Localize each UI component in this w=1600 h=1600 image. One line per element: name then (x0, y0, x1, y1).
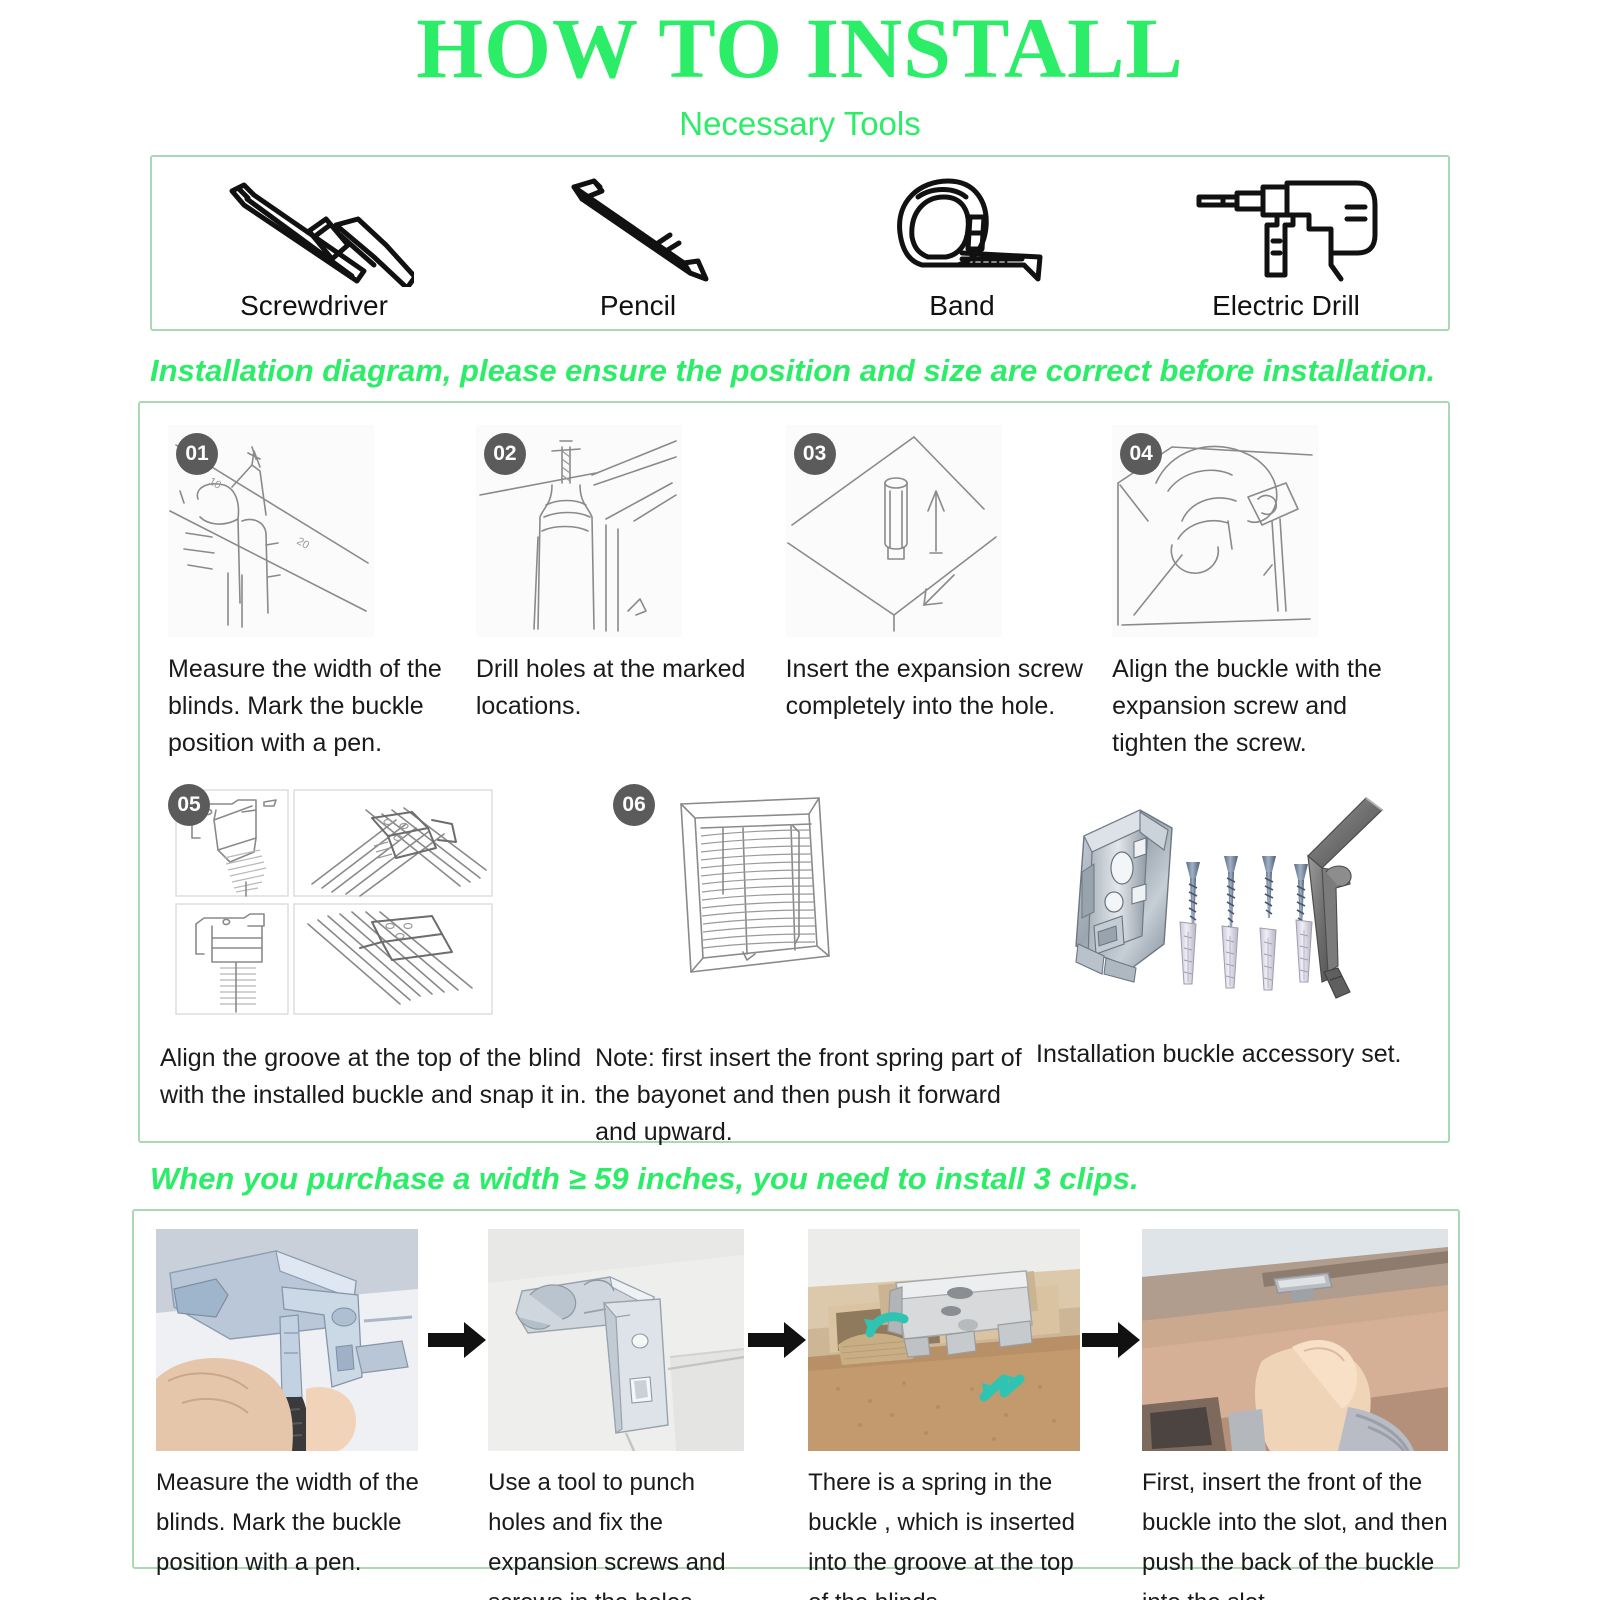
install-guide-page: HOW TO INSTALL Necessary Tools Scr (0, 0, 1600, 1600)
step-06-illustration: 06 (595, 776, 943, 1026)
installation-diagram-box: 01 (138, 401, 1450, 1143)
accessory-set-photo (1036, 776, 1422, 1026)
clip-caption: First, insert the front of the buckle in… (1142, 1463, 1448, 1600)
clips-section-heading: When you purchase a width ≥ 59 inches, y… (0, 1159, 1600, 1199)
screwdriver-icon (214, 175, 414, 287)
tool-label: Pencil (600, 289, 676, 323)
step-badge: 04 (1120, 433, 1162, 475)
clip-caption: Use a tool to punch holes and fix the ex… (488, 1463, 748, 1600)
necessary-tools-box: Screwdriver Pencil (150, 155, 1450, 331)
clip-caption: Measure the width of the blinds. Mark th… (156, 1463, 428, 1583)
tool-electric-drill: Electric Drill (1124, 157, 1448, 329)
clip-step-3: There is a spring in the buckle , which … (808, 1229, 1082, 1600)
right-arrow-icon (748, 1320, 808, 1360)
arrow-2 (748, 1229, 808, 1451)
tools-subtitle: Necessary Tools (0, 104, 1600, 144)
steps-row-2: 05 (140, 762, 1448, 1151)
page-title: HOW TO INSTALL (0, 0, 1600, 94)
clip-caption: There is a spring in the buckle , which … (808, 1463, 1082, 1600)
clip-install-photo-box: Measure the width of the blinds. Mark th… (132, 1209, 1460, 1569)
step-card-01: 01 (168, 425, 476, 762)
step-badge: 02 (484, 433, 526, 475)
step-card-02: 02 (476, 425, 786, 762)
step-01-illustration: 01 (168, 425, 374, 637)
clip-photo-2 (488, 1229, 744, 1451)
step-caption: Note: first insert the front spring part… (595, 1040, 1036, 1151)
accessory-caption: Installation buckle accessory set. (1036, 1036, 1428, 1073)
step-caption: Insert the expansion screw completely in… (786, 651, 1113, 725)
tape-measure-icon (862, 175, 1062, 287)
step-badge: 05 (168, 784, 210, 826)
step-05-illustration: 05 (160, 776, 512, 1026)
step-badge: 06 (613, 784, 655, 826)
step-caption: Align the groove at the top of the blind… (160, 1040, 595, 1114)
tool-label: Band (929, 289, 994, 323)
right-arrow-icon (1082, 1320, 1142, 1360)
tool-label: Electric Drill (1212, 289, 1360, 323)
tool-band: Band (800, 157, 1124, 329)
accessory-set-card: Installation buckle accessory set. (1036, 776, 1428, 1151)
step-caption: Measure the width of the blinds. Mark th… (168, 651, 476, 762)
svg-text:10: 10 (206, 475, 223, 492)
clip-step-1: Measure the width of the blinds. Mark th… (144, 1229, 428, 1583)
step-card-03: 03 (786, 425, 1113, 762)
tool-screwdriver: Screwdriver (152, 157, 476, 329)
clip-step-4: First, insert the front of the buckle in… (1142, 1229, 1448, 1600)
arrow-3 (1082, 1229, 1142, 1451)
step-02-illustration: 02 (476, 425, 682, 637)
step-03-illustration: 03 (786, 425, 1002, 637)
diagram-section-heading: Installation diagram, please ensure the … (0, 351, 1600, 391)
pencil-icon (538, 175, 738, 287)
step-badge: 01 (176, 433, 218, 475)
tool-pencil: Pencil (476, 157, 800, 329)
clip-step-2: Use a tool to punch holes and fix the ex… (488, 1229, 748, 1600)
step-card-06: 06 (595, 776, 1036, 1151)
steps-row-1: 01 (140, 425, 1448, 762)
step-card-05: 05 (160, 776, 595, 1151)
tool-label: Screwdriver (240, 289, 388, 323)
step-caption: Drill holes at the marked locations. (476, 651, 786, 725)
step-04-illustration: 04 (1112, 425, 1318, 637)
step-badge: 03 (794, 433, 836, 475)
svg-text:20: 20 (294, 535, 311, 552)
arrow-1 (428, 1229, 488, 1451)
right-arrow-icon (428, 1320, 488, 1360)
clip-photo-3 (808, 1229, 1080, 1451)
step-caption: Align the buckle with the expansion scre… (1112, 651, 1420, 762)
step-card-04: 04 (1112, 425, 1420, 762)
clip-photo-1 (156, 1229, 418, 1451)
electric-drill-icon (1181, 175, 1391, 287)
clip-steps-row: Measure the width of the blinds. Mark th… (134, 1229, 1458, 1600)
clip-photo-4 (1142, 1229, 1448, 1451)
